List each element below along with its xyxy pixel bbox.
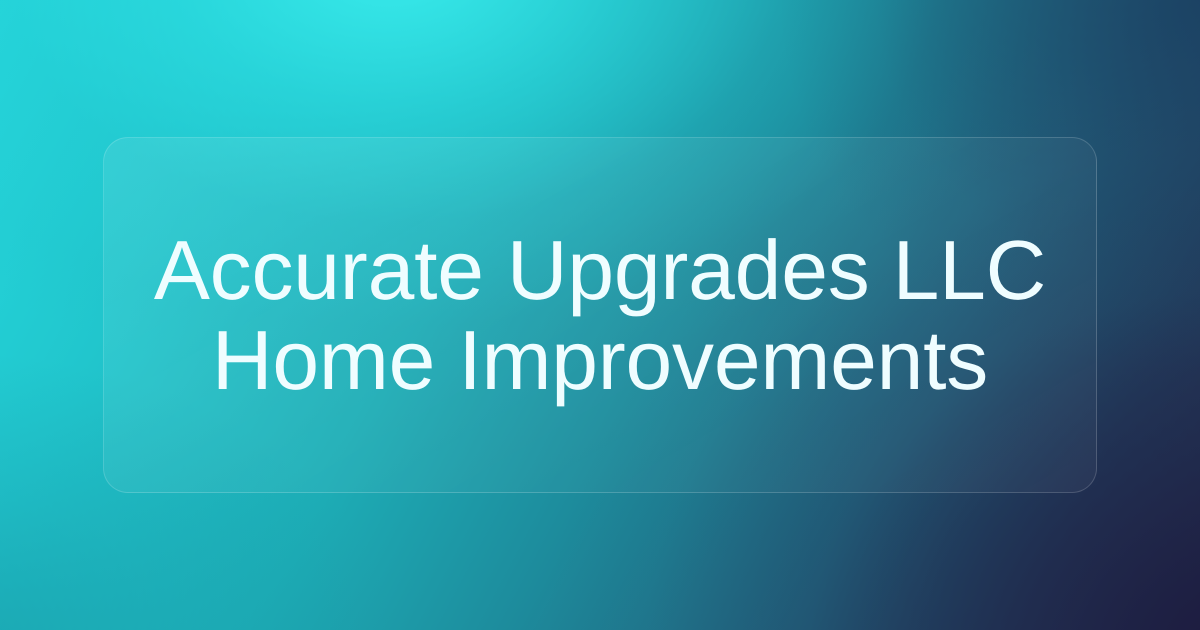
banner-canvas: Accurate Upgrades LLC Home Improvements — [0, 0, 1200, 630]
glass-title-card: Accurate Upgrades LLC Home Improvements — [103, 137, 1097, 493]
page-title: Accurate Upgrades LLC Home Improvements — [104, 225, 1096, 405]
